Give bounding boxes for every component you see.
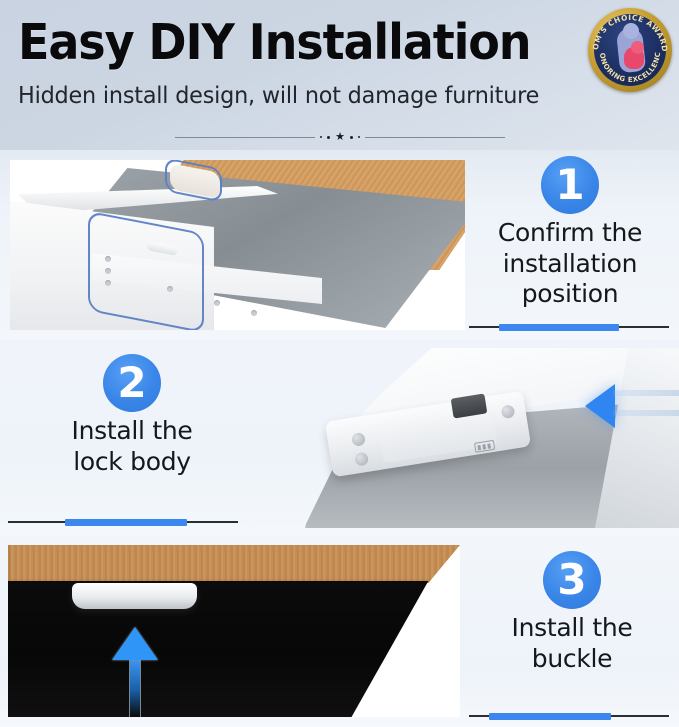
svg-text:MOM'S CHOICE AWARDS: MOM'S CHOICE AWARDS [588, 8, 669, 52]
step-2-text-block: 2 Install the lock body [22, 354, 242, 477]
step-3-text-block: 3 Install the buckle [477, 551, 667, 674]
divider-line-right [365, 137, 505, 138]
step-3-accent-bar [489, 713, 611, 720]
buckle-direction-arrow-shaft [129, 657, 141, 717]
desktop-underside-wood [8, 545, 460, 583]
battery-indicator-icon [474, 440, 495, 453]
lock-screw-hole [501, 404, 516, 419]
buckle-direction-arrow-icon [112, 627, 158, 660]
lock-screw-hole [351, 432, 366, 447]
step-1-label: Confirm the installation position [465, 218, 675, 310]
step-2-label: Install the lock body [22, 416, 242, 477]
divider-star-icon: ★ [335, 132, 345, 143]
header-banner: Easy DIY Installation Hidden install des… [0, 0, 679, 150]
step-3-illustration [8, 545, 460, 717]
divider-dot-medium-right [350, 136, 353, 139]
screw-hole [214, 300, 220, 306]
divider-dot-medium-left [327, 136, 330, 139]
page-title: Easy DIY Installation [18, 18, 530, 67]
page-subtitle: Hidden install design, will not damage f… [18, 83, 539, 109]
step-2-number-badge: 2 [103, 354, 161, 412]
screw-hole [251, 310, 257, 316]
ornamental-divider: ★ [175, 131, 505, 143]
step-3-number-badge: 3 [543, 551, 601, 609]
buckle-component [72, 583, 197, 609]
step-2-accent-bar [65, 519, 187, 526]
step-3-label: Install the buckle [477, 613, 667, 674]
lock-screw-hole [354, 452, 369, 467]
arrow-tail-line [613, 390, 679, 396]
arrow-tail-line [613, 410, 679, 416]
step-1-text-block: 1 Confirm the installation position [465, 156, 675, 310]
step-panel-2: 2 Install the lock body [0, 340, 679, 535]
badge-text-ring: MOM'S CHOICE AWARDS HONORING EXCELLENCE [588, 8, 672, 92]
step-1-illustration [10, 160, 465, 330]
step-1-number-badge: 1 [541, 156, 599, 214]
divider-dot-small-left [320, 136, 322, 138]
product-infographic: Easy DIY Installation Hidden install des… [0, 0, 679, 727]
step-panel-3: 3 Install the buckle [0, 535, 679, 727]
divider-line-left [175, 137, 315, 138]
divider-dot-small-right [358, 136, 360, 138]
install-direction-arrow-icon [585, 384, 615, 428]
step-1-accent-bar [499, 324, 619, 331]
moms-choice-awards-badge: MOM'S CHOICE AWARDS HONORING EXCELLENCE [588, 8, 672, 92]
step-panel-1: 1 Confirm the installation position [0, 150, 679, 340]
step-2-illustration [304, 348, 679, 528]
